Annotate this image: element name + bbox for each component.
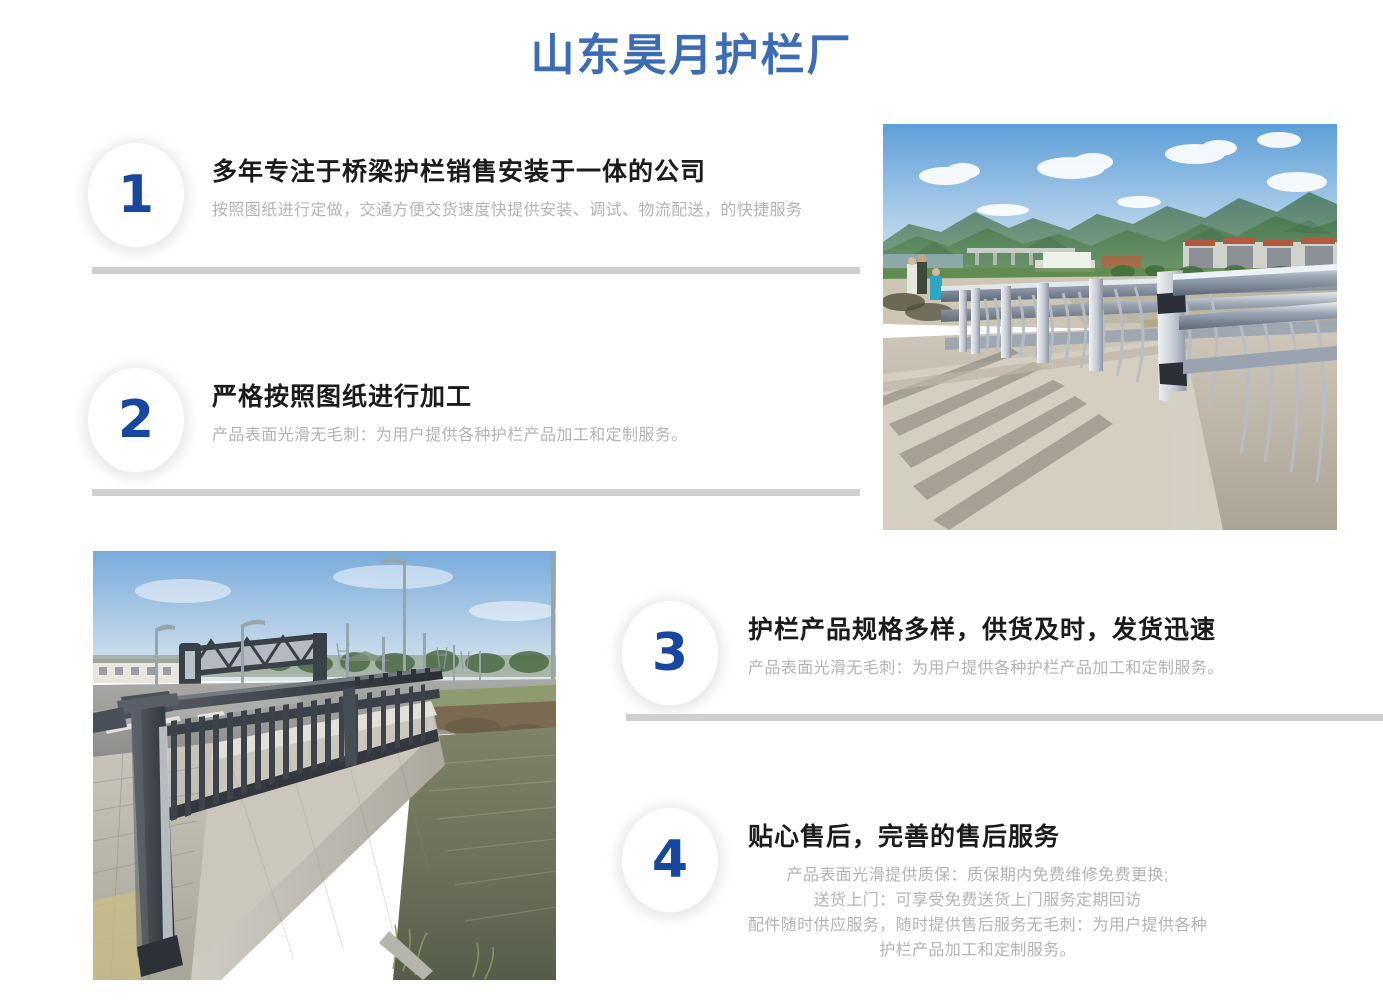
feature-sub-4: 产品表面光滑提供质保：质保期内免费维修免费更换; 送货上门：可享受免费送货上门服… [748,864,1207,963]
feature-item-3: 3 护栏产品规格多样，供货及时，发货迅速 产品表面光滑无毛刺：为用户提供各种护栏… [622,601,1224,705]
feature-sub-2: 产品表面光滑无毛刺：为用户提供各种护栏产品加工和定制服务。 [212,424,688,449]
page-title: 山东昊月护栏厂 [0,30,1383,83]
photo-stainless-steel-bridge-railing-image [883,124,1337,530]
feature-number-1: 1 [118,169,154,221]
feature-text-3: 护栏产品规格多样，供货及时，发货迅速 产品表面光滑无毛刺：为用户提供各种护栏产品… [748,601,1224,682]
feature-number-badge-4: 4 [622,808,718,912]
photo-stainless-steel-bridge-railing [883,124,1337,530]
feature-text-1: 多年专注于桥梁护栏销售安装于一体的公司 按照图纸进行定做，交通方便交货速度快提供… [212,143,802,224]
feature-item-1: 1 多年专注于桥梁护栏销售安装于一体的公司 按照图纸进行定做，交通方便交货速度快… [88,143,802,247]
feature-heading-3: 护栏产品规格多样，供货及时，发货迅速 [748,615,1224,646]
feature-item-2: 2 严格按照图纸进行加工 产品表面光滑无毛刺：为用户提供各种护栏产品加工和定制服… [88,368,688,472]
feature-heading-1: 多年专注于桥梁护栏销售安装于一体的公司 [212,157,802,188]
feature-sub-4-line-2: 送货上门：可享受免费送货上门服务定期回访 [748,889,1207,914]
photo-dark-gray-bridge-railing [93,551,556,980]
feature-item-4: 4 贴心售后，完善的售后服务 产品表面光滑提供质保：质保期内免费维修免费更换; … [622,808,1207,963]
feature-sub-1: 按照图纸进行定做，交通方便交货速度快提供安装、调试、物流配送，的快捷服务 [212,199,802,224]
feature-number-4: 4 [652,834,688,886]
feature-heading-4: 贴心售后，完善的售后服务 [748,822,1207,853]
feature-sub-4-line-3: 配件随时供应服务，随时提供售后服务无毛刺：为用户提供各种 [748,914,1207,939]
feature-sub-3: 产品表面光滑无毛刺：为用户提供各种护栏产品加工和定制服务。 [748,657,1224,682]
divider-1 [92,267,860,274]
feature-text-2: 严格按照图纸进行加工 产品表面光滑无毛刺：为用户提供各种护栏产品加工和定制服务。 [212,368,688,449]
feature-number-2: 2 [118,394,154,446]
divider-2 [92,489,860,496]
feature-number-badge-1: 1 [88,143,184,247]
feature-number-3: 3 [652,627,688,679]
feature-number-badge-3: 3 [622,601,718,705]
feature-heading-2: 严格按照图纸进行加工 [212,382,688,413]
feature-sub-4-line-1: 产品表面光滑提供质保：质保期内免费维修免费更换; [748,864,1207,889]
feature-number-badge-2: 2 [88,368,184,472]
feature-text-4: 贴心售后，完善的售后服务 产品表面光滑提供质保：质保期内免费维修免费更换; 送货… [748,808,1207,963]
factory-buildings [93,659,189,683]
divider-3 [626,714,1383,721]
photo-dark-gray-bridge-railing-image [93,551,556,980]
feature-sub-4-line-4: 护栏产品加工和定制服务。 [748,939,1207,964]
